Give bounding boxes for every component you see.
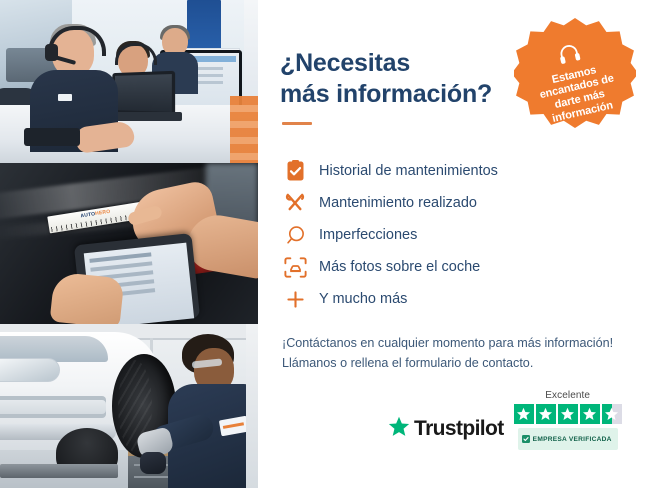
laptop-decor [112, 71, 175, 115]
feature-item-much-more: Y mucho más [280, 283, 650, 315]
feature-label: Mantenimiento realizado [319, 195, 477, 211]
maintenance-history-icon [280, 160, 310, 182]
star-filled-1 [514, 404, 534, 424]
check-badge-icon [522, 430, 530, 448]
star-filled-3 [558, 404, 578, 424]
feature-item-maintenance-done: Mantenimiento realizado [280, 187, 650, 219]
star-filled-4 [580, 404, 600, 424]
inspector-hand-lower-decor [50, 271, 125, 324]
call-center-agents-photo [0, 0, 258, 163]
heading-divider [282, 122, 312, 125]
verified-business-label: EMPRESA VERIFICADA [533, 436, 612, 443]
trustpilot-stars [514, 404, 622, 424]
photo-column: AUTOHERO [0, 0, 258, 488]
trustpilot-star-icon [388, 416, 410, 442]
garage-right-edge-decor [246, 324, 258, 488]
tools-icon [280, 192, 310, 214]
car-photo-frame-icon [280, 257, 310, 278]
contact-line-1: ¡Contáctanos en cualquier momento para m… [282, 333, 632, 353]
page-title: ¿Necesitas más información? [280, 48, 510, 109]
promo-badge: Estamos encantados de darte más informac… [514, 18, 636, 140]
magnifier-icon [280, 225, 310, 246]
feature-label: Imperfecciones [319, 227, 417, 243]
feature-label: Más fotos sobre el coche [319, 259, 480, 275]
orange-shelf-decor [230, 96, 258, 163]
contact-text: ¡Contáctanos en cualquier momento para m… [282, 333, 632, 374]
mechanic-decor [168, 334, 258, 488]
feature-item-more-photos: Más fotos sobre el coche [280, 251, 650, 283]
star-filled-2 [536, 404, 556, 424]
feature-item-maintenance-history: Historial de mantenimientos [280, 155, 650, 187]
badge-text: Estamos encantados de darte más informac… [526, 58, 631, 129]
car-lift-decor [0, 464, 118, 478]
vehicle-inspection-photo: AUTOHERO [0, 163, 258, 324]
headset-icon [556, 41, 583, 70]
trustpilot-logo[interactable]: Trustpilot [388, 416, 504, 450]
trustpilot-rating-label: Excelente [545, 390, 590, 401]
contact-info-banner: AUTOHERO [0, 0, 650, 488]
mechanic-wheel-check-photo [0, 324, 258, 488]
feature-item-imperfections: Imperfecciones [280, 219, 650, 251]
heading-line-2: más información? [280, 80, 492, 108]
feature-label: Historial de mantenimientos [319, 163, 498, 179]
ruler-brand-part1: AUTO [80, 211, 96, 219]
star-half-5 [602, 404, 622, 424]
trustpilot-rating: Excelente [514, 390, 622, 450]
plus-icon [280, 289, 310, 310]
contact-line-2: Llámanos o rellena el formulario de cont… [282, 353, 632, 373]
trustpilot-widget[interactable]: Trustpilot Excelente [388, 390, 622, 450]
ruler-brand-part2: HERO [95, 209, 111, 217]
verified-business-badge: EMPRESA VERIFICADA [518, 428, 618, 450]
content-panel: ¿Necesitas más información? Estamos enca… [258, 0, 650, 488]
desk-tablet-decor [24, 128, 80, 146]
feature-list: Historial de mantenimientos Mantenimient… [280, 155, 650, 315]
trustpilot-wordmark: Trustpilot [414, 417, 504, 441]
wall-strip-decor [244, 0, 258, 100]
feature-label: Y mucho más [319, 291, 407, 307]
heading-line-1: ¿Necesitas [280, 49, 410, 77]
